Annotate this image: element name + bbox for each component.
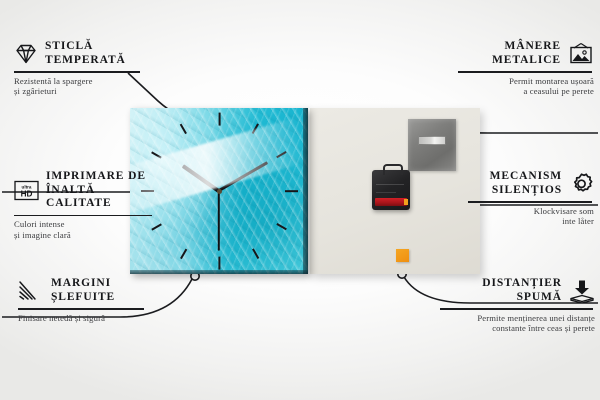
hanger-slot bbox=[418, 136, 446, 145]
battery-terminal bbox=[404, 199, 408, 205]
svg-text:HD: HD bbox=[21, 189, 33, 198]
gear-icon bbox=[569, 172, 594, 196]
feature-subtitle: Culori intense și imagine clară bbox=[14, 219, 154, 240]
clock-face bbox=[130, 108, 308, 274]
feature-subtitle: Klockvisare som inte låter bbox=[468, 206, 594, 227]
metal-hanger-plate bbox=[408, 119, 456, 171]
center-cap bbox=[217, 189, 222, 194]
feature-title: MECANISM SILENȚIOS bbox=[490, 170, 562, 197]
hour-tick bbox=[218, 112, 220, 125]
mechanism-detail-line bbox=[376, 192, 396, 193]
feature-foam-spacer: DISTANȚIER SPUMĂ Permite menținerea unei… bbox=[440, 277, 595, 334]
infographic-stage: STICLĂ TEMPERATĂ Rezistentă la spargere … bbox=[0, 0, 600, 400]
hour-tick bbox=[252, 123, 259, 133]
tempered-glass-clock-face bbox=[130, 108, 308, 274]
feature-rule bbox=[18, 308, 144, 310]
battery bbox=[375, 198, 407, 206]
clock-mechanism bbox=[372, 170, 410, 210]
picture-frame-icon bbox=[568, 42, 594, 65]
feature-subtitle: Finisare netedă și sigură bbox=[18, 313, 146, 324]
hour-tick bbox=[180, 248, 187, 258]
feature-title: STICLĂ TEMPERATĂ bbox=[45, 40, 126, 67]
feature-title: MARGINI ȘLEFUITE bbox=[51, 277, 115, 304]
feature-title: IMPRIMARE DE ÎNALTĂ CALITATE bbox=[46, 170, 154, 211]
ultra-hd-icon: ultra HD bbox=[14, 180, 39, 201]
foam-spacer-pad bbox=[396, 249, 409, 262]
feature-rule bbox=[458, 71, 592, 73]
hour-hand bbox=[182, 164, 220, 193]
feature-subtitle: Rezistentă la spargere și zgârieturi bbox=[14, 76, 142, 97]
mechanism-detail-line bbox=[376, 184, 404, 185]
feature-title: MÂNERE METALICE bbox=[492, 40, 561, 67]
second-hand bbox=[218, 191, 220, 251]
minute-hand bbox=[218, 162, 268, 193]
hour-tick bbox=[180, 123, 187, 133]
hour-tick bbox=[285, 190, 298, 192]
mechanism-hook bbox=[383, 164, 403, 175]
feature-rule bbox=[440, 308, 593, 310]
diamond-icon bbox=[14, 43, 38, 65]
feature-rule bbox=[14, 71, 140, 73]
hour-tick bbox=[218, 256, 220, 269]
feature-tempered-glass: STICLĂ TEMPERATĂ Rezistentă la spargere … bbox=[14, 40, 142, 97]
hour-tick bbox=[276, 152, 286, 159]
hour-tick bbox=[151, 152, 161, 159]
feature-polished-edges: MARGINI ȘLEFUITE Finisare netedă și sigu… bbox=[18, 277, 146, 323]
down-arrow-stack-icon bbox=[569, 279, 595, 303]
feature-subtitle: Permit montarea ușoară a ceasului pe per… bbox=[458, 76, 594, 97]
clock-back-panel bbox=[310, 108, 480, 274]
feature-subtitle: Permite menținerea unei distanțe constan… bbox=[440, 313, 595, 334]
feature-title: DISTANȚIER SPUMĂ bbox=[482, 277, 562, 304]
feature-rule bbox=[14, 215, 152, 217]
feature-rule bbox=[468, 201, 592, 203]
diagonal-lines-icon bbox=[18, 280, 44, 301]
hour-tick bbox=[276, 224, 286, 231]
feature-metal-handles: MÂNERE METALICE Permit montarea ușoară a… bbox=[458, 40, 594, 97]
hour-tick bbox=[252, 248, 259, 258]
feature-silent-mechanism: MECANISM SILENȚIOS Klockvisare som inte … bbox=[468, 170, 594, 227]
product-image bbox=[130, 108, 480, 274]
feature-high-quality-print: ultra HD IMPRIMARE DE ÎNALTĂ CALITATE Cu… bbox=[14, 170, 154, 240]
